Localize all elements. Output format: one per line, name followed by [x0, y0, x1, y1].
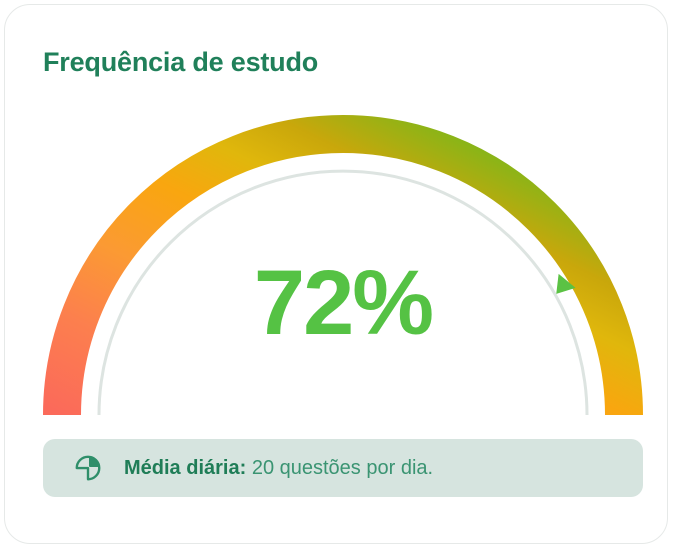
pie-chart-icon [73, 453, 103, 483]
daily-average-label: Média diária: [124, 457, 246, 479]
frequency-card: Frequência de estudo [4, 4, 668, 544]
page-title: Frequência de estudo [43, 47, 318, 78]
gauge-value-label: 72% [5, 257, 676, 349]
daily-average-banner: Média diária: 20 questões por dia. [43, 439, 643, 497]
daily-average-detail: 20 questões por dia. [252, 457, 433, 479]
daily-average-text: Média diária: 20 questões por dia. [124, 457, 433, 480]
